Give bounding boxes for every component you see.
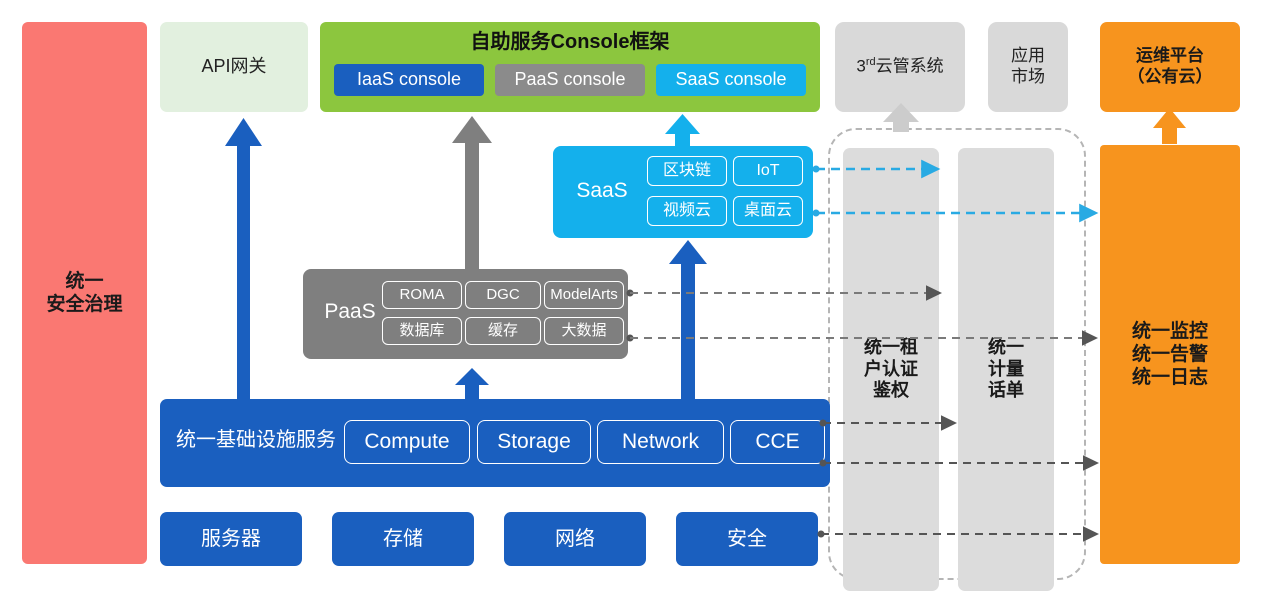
third-party-superscript: rd (866, 56, 876, 68)
iaas-service-compute-label: Compute (364, 429, 449, 455)
saas-service-blockchain[interactable]: 区块链 (647, 156, 727, 186)
iaas-service-network-label: Network (622, 429, 699, 455)
iaas-service-network[interactable]: Network (597, 420, 724, 464)
saas-layer-label: SaaS (563, 178, 641, 204)
paas-service-bigdata-label: 大数据 (561, 322, 606, 340)
security-governance-label: 统一 安全治理 (46, 270, 122, 316)
infrastructure-item-network-label: 网络 (555, 527, 595, 551)
saas-layer-box: SaaS 区块链 IoT 视频云 桌面云 (553, 146, 813, 238)
paas-layer-box: PaaS ROMA DGC ModelArts 数据库 缓存 大数据 (303, 269, 628, 359)
ops-pillar-label: 统一监控 统一告警 统一日志 (1132, 320, 1208, 390)
third-party-cloud-management-label: 3rd云管系统 (856, 56, 943, 77)
infrastructure-item-security-label: 安全 (727, 527, 767, 551)
paas-service-modelarts-label: ModelArts (550, 286, 618, 304)
api-gateway-box: API网关 (160, 22, 308, 112)
api-gateway-label: API网关 (201, 56, 266, 78)
iaas-service-storage[interactable]: Storage (477, 420, 591, 464)
saas-service-iot[interactable]: IoT (733, 156, 803, 186)
self-service-console-framework: 自助服务Console框架 IaaS console PaaS console … (320, 22, 820, 112)
app-market-label: 应用 市场 (1011, 46, 1045, 87)
saas-service-video-cloud-label: 视频云 (663, 201, 711, 221)
paas-layer-label: PaaS (311, 299, 389, 325)
paas-service-database[interactable]: 数据库 (382, 317, 462, 345)
paas-service-dgc[interactable]: DGC (465, 281, 541, 309)
iaas-service-cce[interactable]: CCE (730, 420, 825, 464)
third-party-suffix: 云管系统 (876, 57, 944, 76)
paas-service-cache-label: 缓存 (488, 322, 518, 340)
iaas-console-chip[interactable]: IaaS console (334, 64, 484, 96)
iaas-service-storage-label: Storage (497, 429, 571, 455)
paas-service-roma[interactable]: ROMA (382, 281, 462, 309)
paas-service-dgc-label: DGC (486, 286, 519, 304)
arrow-iaas-to-saas (669, 240, 707, 402)
saas-service-iot-label: IoT (756, 161, 779, 181)
architecture-diagram: 统一 安全治理 API网关 自助服务Console框架 IaaS console… (0, 0, 1265, 605)
third-party-prefix: 3 (856, 57, 865, 76)
arrow-iaas-to-paas (455, 368, 489, 400)
iaas-service-cce-label: CCE (755, 429, 799, 455)
saas-service-blockchain-label: 区块链 (663, 161, 711, 181)
paas-service-database-label: 数据库 (399, 322, 444, 340)
paas-service-cache[interactable]: 缓存 (465, 317, 541, 345)
arrow-shared-to-ops-platform (1153, 108, 1186, 144)
saas-console-chip[interactable]: SaaS console (656, 64, 806, 96)
ops-platform-box: 运维平台 （公有云） (1100, 22, 1240, 112)
infrastructure-item-storage[interactable]: 存储 (332, 512, 474, 566)
unified-metering-billing-label: 统一 计量 话单 (988, 337, 1024, 403)
infrastructure-item-security[interactable]: 安全 (676, 512, 818, 566)
infrastructure-item-network[interactable]: 网络 (504, 512, 646, 566)
paas-console-label: PaaS console (514, 69, 625, 91)
paas-service-modelarts[interactable]: ModelArts (544, 281, 624, 309)
paas-service-roma-label: ROMA (400, 286, 445, 304)
unified-infrastructure-service-band: 统一基础设施服务 Compute Storage Network CCE (160, 399, 830, 487)
arrow-saas-to-console (665, 114, 700, 148)
console-framework-title: 自助服务Console框架 (320, 30, 820, 54)
saas-console-label: SaaS console (675, 69, 786, 91)
saas-service-desktop-cloud-label: 桌面云 (744, 201, 792, 221)
unified-infrastructure-service-label: 统一基础设施服务 (176, 428, 336, 452)
arrow-iaas-to-api-gateway (225, 118, 262, 402)
unified-tenant-auth-label: 统一租 户认证 鉴权 (864, 337, 918, 403)
saas-service-desktop-cloud[interactable]: 桌面云 (733, 196, 803, 226)
infrastructure-item-storage-label: 存储 (383, 527, 423, 551)
security-governance-pillar: 统一 安全治理 (22, 22, 147, 564)
paas-service-bigdata[interactable]: 大数据 (544, 317, 624, 345)
iaas-console-label: IaaS console (357, 69, 461, 91)
app-market-box: 应用 市场 (988, 22, 1068, 112)
infrastructure-item-server-label: 服务器 (201, 527, 261, 551)
unified-metering-billing-column: 统一 计量 话单 (958, 148, 1054, 591)
iaas-service-compute[interactable]: Compute (344, 420, 470, 464)
third-party-cloud-management-box: 3rd云管系统 (835, 22, 965, 112)
arrow-paas-to-console (452, 116, 492, 269)
saas-service-video-cloud[interactable]: 视频云 (647, 196, 727, 226)
ops-pillar-body: 统一监控 统一告警 统一日志 (1100, 145, 1240, 564)
unified-tenant-auth-column: 统一租 户认证 鉴权 (843, 148, 939, 591)
paas-console-chip[interactable]: PaaS console (495, 64, 645, 96)
ops-platform-label: 运维平台 （公有云） (1128, 46, 1213, 87)
infrastructure-item-server[interactable]: 服务器 (160, 512, 302, 566)
